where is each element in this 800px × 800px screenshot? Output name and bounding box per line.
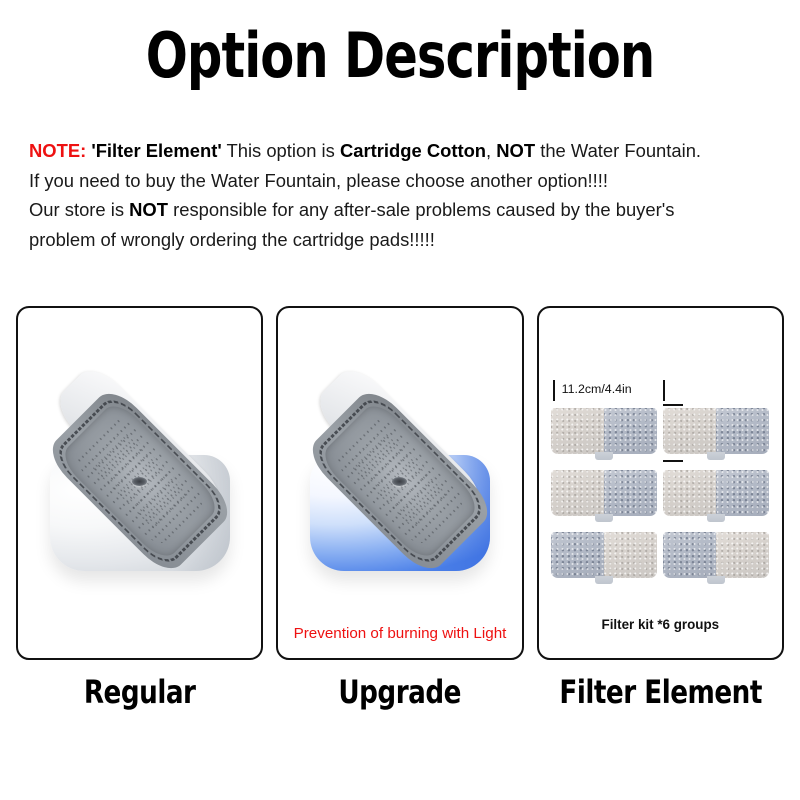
note-line3-text-b: responsible for any after-sale problems … [168, 199, 674, 220]
filter-pad-left [663, 470, 716, 516]
note-line1-text-a: This option is [222, 140, 340, 161]
filter-group [551, 470, 657, 516]
note-not-emphasis-2: NOT [129, 199, 168, 220]
filter-pad-right [604, 408, 657, 454]
option-panel-regular[interactable] [16, 306, 263, 660]
option-labels: Regular Upgrade Filter Element [16, 672, 784, 718]
filter-pad-tab [707, 514, 725, 522]
filter-pad-right [716, 470, 769, 516]
filter-kit-caption: Filter kit *6 groups [539, 617, 782, 632]
note-line-2: If you need to buy the Water Fountain, p… [29, 166, 781, 196]
upgrade-caption: Prevention of burning with Light [278, 625, 521, 642]
filter-pad-right [716, 408, 769, 454]
filter-pad-grid [551, 408, 769, 582]
note-not-emphasis-1: NOT [496, 140, 535, 161]
note-label: NOTE: [29, 140, 86, 161]
dimension-width-annotation: 11.2cm/4.4in [553, 380, 665, 402]
option-panel-filter-element[interactable]: 11.2cm/4.4in 4.3 cm /1.7in [537, 306, 784, 660]
filter-group [663, 532, 769, 578]
option-label-upgrade: Upgrade [299, 672, 502, 718]
option-label-filter-element: Filter Element [559, 672, 762, 718]
filter-pad-right [716, 532, 769, 578]
note-line3-text-a: Our store is [29, 199, 129, 220]
dimension-bar-top [663, 404, 683, 406]
filter-pad-tab [707, 576, 725, 584]
page-title: Option Description [80, 24, 720, 88]
water-fountain-regular-image [36, 377, 244, 585]
note-cartridge-cotton: Cartridge Cotton [340, 140, 486, 161]
filter-group [551, 408, 657, 454]
filter-pad-tab [707, 452, 725, 460]
option-panels: Prevention of burning with Light 11.2cm/… [16, 306, 784, 660]
note-line1-comma: , [486, 140, 496, 161]
note-paragraph: NOTE: 'Filter Element' This option is Ca… [29, 136, 781, 254]
option-label-regular: Regular [38, 672, 241, 718]
fountain-center-hole [132, 477, 147, 486]
filter-pad-left [663, 408, 716, 454]
filter-pad-tab [595, 576, 613, 584]
note-line-4: problem of wrongly ordering the cartridg… [29, 225, 781, 255]
filter-pad-tab [595, 514, 613, 522]
filter-pad-right [604, 532, 657, 578]
note-filter-element-quoted: 'Filter Element' [86, 140, 221, 161]
filter-pad-left [551, 532, 604, 578]
note-line-1: NOTE: 'Filter Element' This option is Ca… [29, 136, 781, 166]
filter-group [663, 470, 769, 516]
filter-group [663, 408, 769, 454]
filter-pad-left [551, 470, 604, 516]
dimension-tick-right [663, 380, 665, 401]
filter-group [551, 532, 657, 578]
dimension-tick-left [553, 380, 555, 401]
option-panel-upgrade[interactable]: Prevention of burning with Light [276, 306, 523, 660]
filter-pad-left [551, 408, 604, 454]
filter-pad-left [663, 532, 716, 578]
water-fountain-upgrade-image [296, 377, 504, 585]
filter-pad-tab [595, 452, 613, 460]
fountain-center-hole [392, 477, 407, 486]
dimension-width-label: 11.2cm/4.4in [562, 382, 632, 396]
note-line-3: Our store is NOT responsible for any aft… [29, 195, 781, 225]
filter-kit-image: 11.2cm/4.4in 4.3 cm /1.7in [539, 308, 782, 658]
note-line1-text-b: the Water Fountain. [535, 140, 701, 161]
filter-pad-right [604, 470, 657, 516]
